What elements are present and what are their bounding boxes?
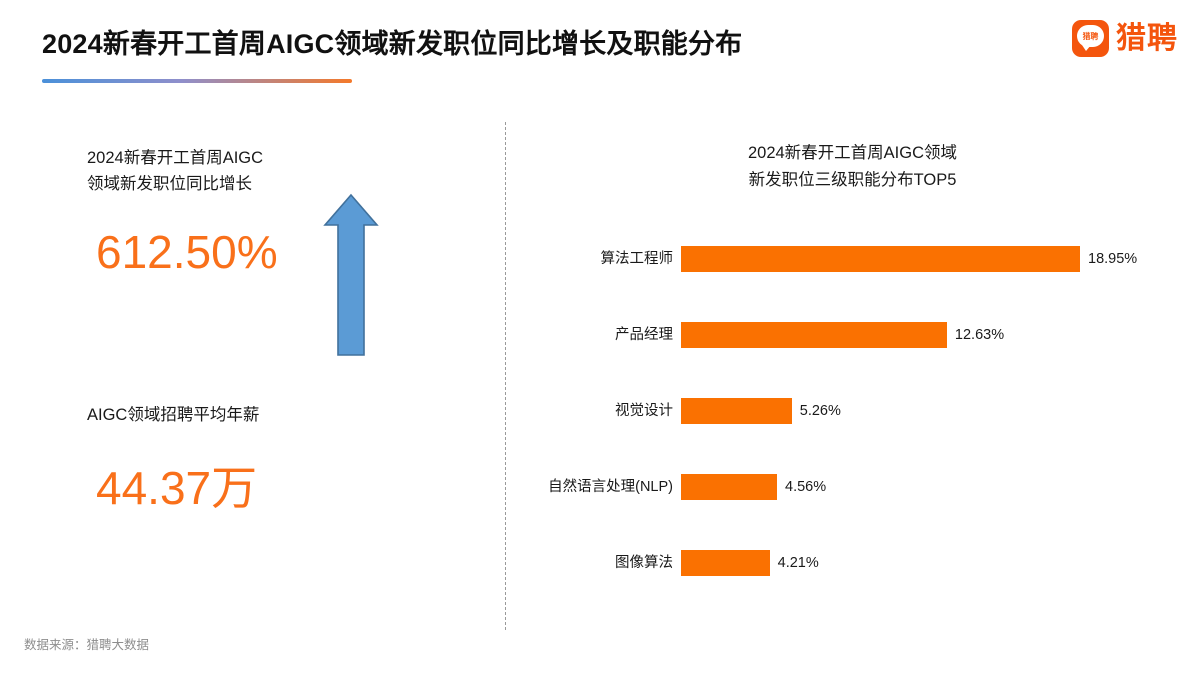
bar-category-label: 图像算法 — [453, 550, 673, 576]
growth-kpi-caption: 2024新春开工首周AIGC 领域新发职位同比增长 — [87, 145, 263, 197]
bar-category-label: 视觉设计 — [453, 398, 673, 424]
data-source-note: 数据来源：猎聘大数据 — [24, 634, 149, 653]
bar-track: 12.63% — [681, 322, 1004, 348]
bar-track: 4.56% — [681, 474, 826, 500]
kpi-panel: 2024新春开工首周AIGC 领域新发职位同比增长 612.50% AIGC领域… — [0, 110, 505, 650]
bar-value-label: 4.21% — [778, 550, 819, 576]
bar-fill — [681, 246, 1080, 272]
bar-row: 产品经理12.63% — [505, 322, 1200, 348]
liepin-logo-icon: 猎聘 — [1072, 20, 1109, 57]
brand-wordmark: 猎聘 — [1116, 24, 1178, 54]
salary-kpi-caption: AIGC领域招聘平均年薪 — [87, 402, 259, 428]
bar-fill — [681, 322, 947, 348]
bar-chart: 算法工程师18.95%产品经理12.63%视觉设计5.26%自然语言处理(NLP… — [505, 246, 1200, 626]
chart-title: 2024新春开工首周AIGC领域 新发职位三级职能分布TOP5 — [505, 140, 1200, 194]
bar-chart-panel: 2024新春开工首周AIGC领域 新发职位三级职能分布TOP5 算法工程师18.… — [505, 110, 1200, 650]
bar-value-label: 12.63% — [955, 322, 1004, 348]
up-arrow-icon — [322, 192, 380, 358]
page-header: 2024新春开工首周AIGC领域新发职位同比增长及职能分布 猎聘 猎聘 — [0, 0, 1200, 100]
bar-row: 图像算法4.21% — [505, 550, 1200, 576]
growth-kpi-value: 612.50% — [96, 229, 278, 275]
bar-value-label: 5.26% — [800, 398, 841, 424]
bar-track: 4.21% — [681, 550, 819, 576]
salary-kpi-value: 44.37万 — [96, 465, 257, 511]
page-title: 2024新春开工首周AIGC领域新发职位同比增长及职能分布 — [42, 22, 742, 61]
bar-row: 算法工程师18.95% — [505, 246, 1200, 272]
bar-category-label: 自然语言处理(NLP) — [453, 474, 673, 500]
bar-fill — [681, 474, 777, 500]
speech-bubble-icon: 猎聘 — [1077, 25, 1104, 47]
bar-fill — [681, 398, 792, 424]
bar-category-label: 产品经理 — [453, 322, 673, 348]
brand-logo: 猎聘 猎聘 — [1072, 20, 1178, 57]
bar-fill — [681, 550, 770, 576]
bar-row: 视觉设计5.26% — [505, 398, 1200, 424]
bar-track: 18.95% — [681, 246, 1137, 272]
bar-track: 5.26% — [681, 398, 841, 424]
bar-row: 自然语言处理(NLP)4.56% — [505, 474, 1200, 500]
logo-mark-text: 猎聘 — [1083, 32, 1099, 40]
bar-value-label: 18.95% — [1088, 246, 1137, 272]
title-underline-accent — [42, 79, 352, 83]
bar-value-label: 4.56% — [785, 474, 826, 500]
bar-category-label: 算法工程师 — [453, 246, 673, 272]
